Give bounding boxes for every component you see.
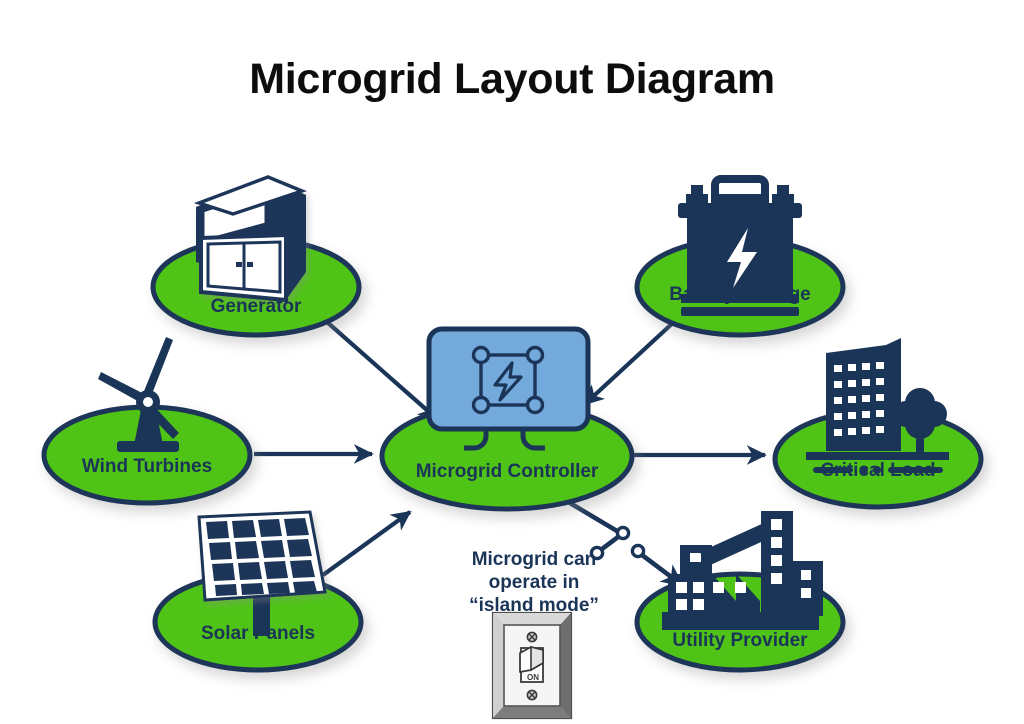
node-solar-panels[interactable]: Solar Panels	[155, 512, 361, 670]
light-switch-icon[interactable]: ON	[493, 613, 571, 718]
annotation-line-1: Microgrid can	[472, 549, 597, 570]
node-utility-label: Utility Provider	[672, 630, 808, 651]
switch-contact-lower	[632, 545, 643, 556]
node-microgrid-controller[interactable]: Microgrid Controller	[382, 329, 632, 509]
edge-generator-to-controller	[327, 322, 437, 419]
light-switch-state-label: ON	[527, 673, 539, 682]
switch-contact-upper	[617, 527, 628, 538]
node-critical-label: Critical Load	[820, 460, 935, 481]
node-utility-provider[interactable]: Utility Provider	[637, 511, 843, 670]
island-mode-annotation: Microgrid can operate in “island mode”	[469, 549, 599, 616]
generator-icon	[196, 177, 306, 300]
edge-solar-to-controller	[323, 512, 410, 575]
controller-icon	[429, 329, 588, 448]
node-generator-label: Generator	[211, 296, 302, 317]
node-battery-storage[interactable]: Battery Storage	[637, 179, 843, 335]
node-wind-turbines[interactable]: Wind Turbines	[44, 337, 250, 503]
node-wind-label: Wind Turbines	[82, 456, 212, 477]
node-solar-label: Solar Panels	[201, 623, 315, 644]
factory-icon	[662, 511, 823, 630]
building-icon	[806, 338, 949, 474]
edge-controller-to-utility-open-switch	[570, 503, 682, 585]
node-controller-label: Microgrid Controller	[416, 461, 599, 482]
annotation-line-2: operate in	[489, 572, 580, 593]
edge-battery-to-controller	[585, 320, 676, 404]
diagram-canvas: Microgrid Layout Diagram	[0, 0, 1024, 724]
page-title: Microgrid Layout Diagram	[249, 55, 775, 103]
microgrid-layout-svg: Microgrid Layout Diagram	[0, 0, 1024, 724]
node-critical-load[interactable]: Critical Load	[775, 338, 981, 507]
node-generator[interactable]: Generator	[153, 177, 359, 335]
switch-lead-controller-side	[570, 503, 622, 534]
node-battery-label: Battery Storage	[669, 284, 811, 305]
